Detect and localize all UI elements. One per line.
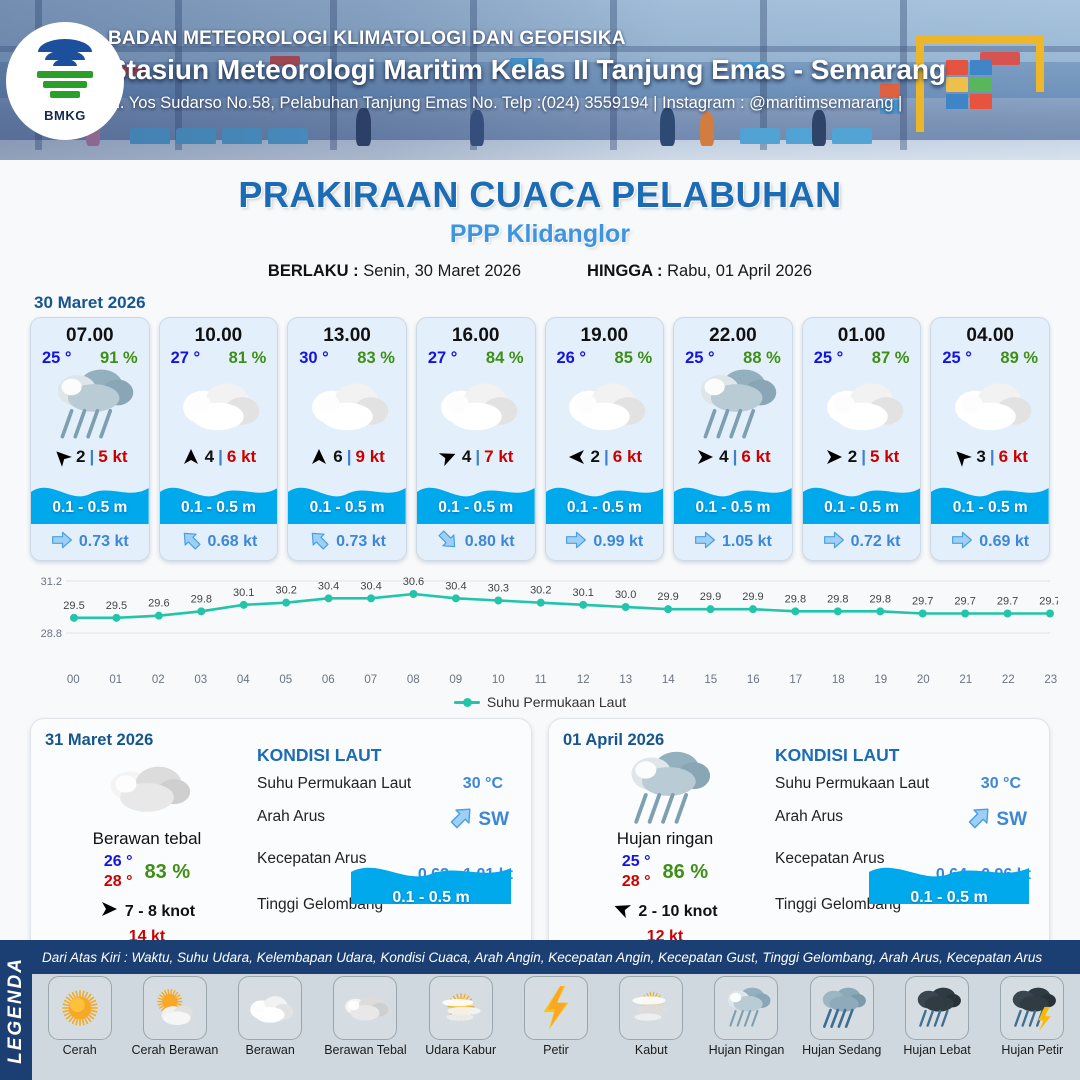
card-wind-row: 4 | 6 kt [160,442,278,472]
svg-text:29.7: 29.7 [954,596,975,608]
card-temperature: 27 ° [171,349,201,368]
card-temperature: 30 ° [299,349,329,368]
card-wind-row: 2 | 6 kt [546,442,664,472]
legenda-item: Cerah Berawan [127,976,222,1057]
valid-until-label: HINGGA : [587,262,662,280]
page-subtitle: PPP Klidanglor [0,220,1080,249]
forecast-card[interactable]: 16.00 27 ° 84 % 4 | 7 kt 0.1 - 0.5 m 0.8… [416,317,536,561]
svg-text:29.5: 29.5 [63,600,84,612]
weather-kabut-icon [619,976,683,1040]
wind-gust: 5 kt [98,447,127,467]
current-speed: 0.73 kt [79,533,129,551]
svg-text:29.7: 29.7 [997,596,1018,608]
svg-text:29.8: 29.8 [870,593,891,605]
wind-direction-arrow-icon [52,447,72,467]
weather-berawan-icon [160,368,278,442]
agency-name: BADAN METEOROLOGI KLIMATOLOGI DAN GEOFIS… [108,28,1068,50]
sst-chart-plot: 31.2 28.8 29.529.529.629.830.130.230.430… [22,573,1058,651]
sea-row-value: SW [996,809,1027,831]
chart-x-tick: 03 [180,674,223,686]
svg-text:29.7: 29.7 [912,596,933,608]
legenda-item: Berawan [223,976,318,1057]
card-wind-row: 4 | 6 kt [674,442,792,472]
logo-arc-icon [36,39,94,69]
svg-text:30.3: 30.3 [488,583,509,595]
wind-separator: | [90,447,95,467]
chart-x-tick: 23 [1030,674,1073,686]
forecast-card[interactable]: 22.00 25 ° 88 % 4 | 6 kt 0.1 - 0.5 m [673,317,793,561]
chart-x-tick: 21 [945,674,988,686]
chart-x-tick: 04 [222,674,265,686]
card-time: 10.00 [160,318,278,347]
wind-separator: | [861,447,866,467]
page-title: PRAKIRAAN CUACA PELABUHAN [0,174,1080,216]
chart-x-tick: 09 [435,674,478,686]
forecast-card[interactable]: 07.00 25 ° 91 % 2 | 5 kt 0.1 - 0.5 m [30,317,150,561]
sea-row-sst: Suhu Permukaan Laut 30 °C [775,775,1035,799]
card-wave-block: 0.1 - 0.5 m [931,474,1049,524]
panel-temp-col: 26 ° 28 ° [104,853,133,891]
forecast-card-row: 07.00 25 ° 91 % 2 | 5 kt 0.1 - 0.5 m [0,317,1080,561]
panel-temp-min: 25 ° [622,853,651,871]
card-current-row: 0.69 kt [931,524,1049,560]
panel-sea-column: KONDISI LAUT Suhu Permukaan Laut 30 °C A… [257,745,517,920]
svg-text:30.6: 30.6 [403,576,424,588]
forecast-card[interactable]: 01.00 25 ° 87 % 2 | 5 kt 0.1 - 0.5 m 0.7… [802,317,922,561]
forecast-day-label: 30 Maret 2026 [34,293,1080,313]
chart-x-tick: 01 [95,674,138,686]
wind-gust: 6 kt [741,447,770,467]
current-direction-arrow-icon [449,804,475,835]
panel-wave-block: 0.1 - 0.5 m [351,854,511,916]
wind-direction-arrow-icon [99,899,119,924]
svg-text:30.1: 30.1 [573,587,594,599]
svg-text:30.0: 30.0 [615,589,636,601]
weather-berawan-tebal-icon [333,976,397,1040]
wind-separator: | [604,447,609,467]
chart-x-tick: 17 [775,674,818,686]
panel-humidity: 86 % [663,861,709,884]
wind-direction-arrow-icon [695,447,715,467]
card-time: 01.00 [803,318,921,347]
svg-text:29.9: 29.9 [700,591,721,603]
wind-direction-arrow-icon [824,447,844,467]
wind-gust: 6 kt [613,447,642,467]
current-speed: 0.73 kt [336,533,386,551]
valid-from-label: BERLAKU : [268,262,359,280]
card-current-row: 0.80 kt [417,524,535,560]
sea-row-label: Arah Arus [775,808,843,825]
wave-height: 0.1 - 0.5 m [931,499,1049,517]
station-name: Stasiun Meteorologi Maritim Kelas II Tan… [108,54,1068,86]
current-direction-arrow-icon [823,529,845,556]
wave-height: 0.1 - 0.5 m [288,499,406,517]
current-speed: 0.69 kt [979,533,1029,551]
wind-direction-arrow-icon [181,447,201,467]
chart-x-tick: 19 [860,674,903,686]
svg-text:29.8: 29.8 [191,593,212,605]
card-wave-block: 0.1 - 0.5 m [803,474,921,524]
card-temperature: 25 ° [942,349,972,368]
chart-x-tick: 10 [477,674,520,686]
sea-row-label: Arah Arus [257,808,325,825]
card-wave-block: 0.1 - 0.5 m [288,474,406,524]
wind-separator: | [733,447,738,467]
svg-text:29.9: 29.9 [742,591,763,603]
chart-x-tick: 11 [520,674,563,686]
forecast-card[interactable]: 10.00 27 ° 81 % 4 | 6 kt 0.1 - 0.5 m 0.6… [159,317,279,561]
card-wind-row: 3 | 6 kt [931,442,1049,472]
weather-berawan-icon [288,368,406,442]
legenda-item: Udara Kabur [413,976,508,1057]
wave-height: 0.1 - 0.5 m [417,499,535,517]
panel-condition: Berawan tebal [47,829,247,849]
weather-hujan-ringan-icon [31,368,149,442]
card-current-row: 0.73 kt [288,524,406,560]
wind-speed: 4 [205,447,214,467]
card-temperature: 26 ° [557,349,587,368]
legenda-item: Hujan Lebat [889,976,984,1057]
card-time: 04.00 [931,318,1049,347]
card-current-row: 0.68 kt [160,524,278,560]
wind-separator: | [990,447,995,467]
panel-temp-hum: 26 ° 28 ° 83 % [47,853,247,891]
card-wind-row: 4 | 7 kt [417,442,535,472]
card-humidity: 87 % [872,349,910,368]
card-wave-block: 0.1 - 0.5 m [546,474,664,524]
logo-text: BMKG [44,108,86,123]
card-humidity: 89 % [1000,349,1038,368]
chart-x-tick: 20 [902,674,945,686]
current-speed: 0.80 kt [465,533,515,551]
chart-x-tick: 00 [52,674,95,686]
chart-x-tick: 16 [732,674,775,686]
legenda-item-row: Cerah Cerah Berawan Berawan Berawan Teba… [32,976,1080,1057]
wind-direction-arrow-icon [612,899,632,924]
daily-summary-panels: 31 Maret 2026 Berawan tebal 26 ° 28 ° 83… [0,710,1080,960]
legenda-item: Hujan Petir [985,976,1080,1057]
sst-chart-legend: Suhu Permukaan Laut [0,694,1080,710]
wind-gust: 9 kt [356,447,385,467]
panel-wind-row: 7 - 8 knot [47,899,247,924]
card-current-row: 0.72 kt [803,524,921,560]
wind-speed: 4 [462,447,471,467]
card-wind-row: 2 | 5 kt [31,442,149,472]
card-time: 13.00 [288,318,406,347]
sea-row-value: 30 °C [463,775,503,793]
valid-until: HINGGA : Rabu, 01 April 2026 [587,262,812,281]
chart-x-tick: 07 [350,674,393,686]
card-time: 22.00 [674,318,792,347]
svg-text:29.6: 29.6 [148,598,169,610]
svg-text:29.7: 29.7 [1039,596,1058,608]
legenda-item: Hujan Ringan [699,976,794,1057]
legenda-item-label: Cerah Berawan [131,1043,218,1057]
daily-summary-panel: 01 April 2026 Hujan ringan 25 ° 28 ° 86 … [548,718,1050,960]
card-temperature: 25 ° [814,349,844,368]
chart-x-tick: 12 [562,674,605,686]
sea-row-value: SW [478,809,509,831]
svg-text:31.2: 31.2 [41,576,62,588]
svg-text:30.4: 30.4 [445,580,466,592]
panel-wind-range: 2 - 10 knot [638,903,717,921]
panel-temp-hum: 25 ° 28 ° 86 % [565,853,765,891]
wind-speed: 2 [76,447,85,467]
card-time: 19.00 [546,318,664,347]
sea-row-sst: Suhu Permukaan Laut 30 °C [257,775,517,799]
card-current-row: 0.99 kt [546,524,664,560]
svg-text:30.4: 30.4 [318,580,339,592]
card-humidity: 85 % [615,349,653,368]
svg-text:29.9: 29.9 [657,591,678,603]
panel-temp-min: 26 ° [104,853,133,871]
svg-text:29.5: 29.5 [106,600,127,612]
card-temp-hum: 26 ° 85 % [546,347,664,368]
weather-hujan-sedang-icon [810,976,874,1040]
current-direction-arrow-icon [51,529,73,556]
panel-temp-max: 28 ° [622,873,651,891]
wind-gust: 6 kt [227,447,256,467]
weather-berawan-icon [238,976,302,1040]
card-wave-block: 0.1 - 0.5 m [31,474,149,524]
sea-row-current-direction: Arah Arus SW [257,808,517,832]
sea-row-label: Suhu Permukaan Laut [257,775,411,792]
chart-x-tick: 02 [137,674,180,686]
forecast-card[interactable]: 19.00 26 ° 85 % 2 | 6 kt 0.1 - 0.5 m 0.9… [545,317,665,561]
wind-speed: 2 [848,447,857,467]
legenda-item-label: Hujan Petir [1001,1043,1063,1057]
legenda-vertical-label: LEGENDA [5,957,27,1064]
card-temp-hum: 30 ° 83 % [288,347,406,368]
weather-hujan-ringan-icon [565,753,765,825]
current-direction-arrow-icon [308,529,330,556]
page-header: BMKG BADAN METEOROLOGI KLIMATOLOGI DAN G… [0,0,1080,160]
current-direction-group: SW [967,804,1027,835]
card-humidity: 84 % [486,349,524,368]
current-speed: 0.99 kt [593,533,643,551]
weather-hujan-ringan-icon [714,976,778,1040]
chart-x-tick: 15 [690,674,733,686]
legenda-item-label: Cerah [63,1043,97,1057]
card-current-row: 1.05 kt [674,524,792,560]
panel-wind-range: 7 - 8 knot [125,903,195,921]
weather-cerah-berawan-icon [143,976,207,1040]
wave-height: 0.1 - 0.5 m [674,499,792,517]
legenda-item-label: Berawan [245,1043,294,1057]
forecast-card[interactable]: 13.00 30 ° 83 % 6 | 9 kt 0.1 - 0.5 m 0.7… [287,317,407,561]
wind-speed: 2 [591,447,600,467]
station-address: Jl. Yos Sudarso No.58, Pelabuhan Tanjung… [108,94,1068,113]
weather-berawan-icon [417,368,535,442]
card-humidity: 81 % [229,349,267,368]
card-time: 07.00 [31,318,149,347]
legenda-item: Hujan Sedang [794,976,889,1057]
legenda-item: Berawan Tebal [318,976,413,1057]
panel-temp-max: 28 ° [104,873,133,891]
legenda-item-label: Petir [543,1043,569,1057]
svg-text:29.8: 29.8 [827,593,848,605]
weather-udara-kabur-icon [429,976,493,1040]
current-direction-arrow-icon [951,529,973,556]
chart-x-tick: 22 [987,674,1030,686]
card-wind-row: 6 | 9 kt [288,442,406,472]
card-temperature: 27 ° [428,349,458,368]
current-speed: 0.68 kt [208,533,258,551]
card-time: 16.00 [417,318,535,347]
weather-hujan-ringan-icon [674,368,792,442]
current-direction-arrow-icon [180,529,202,556]
weather-hujan-lebat-icon [905,976,969,1040]
weather-berawan-tebal-icon [47,753,247,825]
legenda-item-label: Hujan Sedang [802,1043,881,1057]
daily-summary-panel: 31 Maret 2026 Berawan tebal 26 ° 28 ° 83… [30,718,532,960]
legend-line-marker [454,701,480,704]
svg-text:30.2: 30.2 [275,585,296,597]
wind-gust: 7 kt [484,447,513,467]
sea-row-current-direction: Arah Arus SW [775,808,1035,832]
card-temp-hum: 27 ° 84 % [417,347,535,368]
wind-speed: 6 [333,447,342,467]
weather-berawan-icon [931,368,1049,442]
legend-label: Suhu Permukaan Laut [487,694,626,710]
sea-row-value: 30 °C [981,775,1021,793]
panel-temp-col: 25 ° 28 ° [622,853,651,891]
legenda-item-label: Kabut [635,1043,668,1057]
svg-text:30.1: 30.1 [233,587,254,599]
chart-x-tick: 06 [307,674,350,686]
card-wave-block: 0.1 - 0.5 m [160,474,278,524]
current-direction-arrow-icon [694,529,716,556]
legenda-item-label: Berawan Tebal [324,1043,406,1057]
validity-row: BERLAKU : Senin, 30 Maret 2026 HINGGA : … [0,262,1080,281]
weather-petir-icon [524,976,588,1040]
svg-text:30.4: 30.4 [360,580,381,592]
chart-x-tick: 08 [392,674,435,686]
forecast-card[interactable]: 04.00 25 ° 89 % 3 | 6 kt 0.1 - 0.5 m 0.6… [930,317,1050,561]
card-wave-block: 0.1 - 0.5 m [417,474,535,524]
card-humidity: 83 % [357,349,395,368]
bmkg-logo: BMKG [6,22,124,140]
title-section: PRAKIRAAN CUACA PELABUHAN PPP Klidanglor… [0,160,1080,281]
wind-direction-arrow-icon [438,447,458,467]
wave-height: 0.1 - 0.5 m [803,499,921,517]
card-temp-hum: 25 ° 89 % [931,347,1049,368]
svg-text:30.2: 30.2 [530,585,551,597]
wind-separator: | [475,447,480,467]
legenda-item: Kabut [604,976,699,1057]
wind-separator: | [218,447,223,467]
panel-humidity: 83 % [145,861,191,884]
wind-direction-arrow-icon [567,447,587,467]
current-direction-arrow-icon [565,529,587,556]
svg-text:29.8: 29.8 [785,593,806,605]
weather-hujan-petir-icon [1000,976,1064,1040]
legenda-item: Cerah [32,976,127,1057]
card-temp-hum: 25 ° 87 % [803,347,921,368]
sea-condition-title: KONDISI LAUT [257,745,517,766]
panel-sea-column: KONDISI LAUT Suhu Permukaan Laut 30 °C A… [775,745,1035,920]
wind-direction-arrow-icon [309,447,329,467]
wave-height: 0.1 - 0.5 m [160,499,278,517]
chart-x-tick: 14 [647,674,690,686]
card-current-row: 0.73 kt [31,524,149,560]
wave-height: 0.1 - 0.5 m [31,499,149,517]
legenda-item-label: Udara Kabur [425,1043,496,1057]
legenda-item-label: Hujan Ringan [709,1043,785,1057]
chart-x-tick: 05 [265,674,308,686]
weather-berawan-icon [803,368,921,442]
current-direction-arrow-icon [967,804,993,835]
svg-text:28.8: 28.8 [41,628,62,640]
panel-wave-block: 0.1 - 0.5 m [869,854,1029,916]
card-wind-row: 2 | 5 kt [803,442,921,472]
card-wave-block: 0.1 - 0.5 m [674,474,792,524]
legenda-vertical-bar: LEGENDA [0,940,32,1080]
current-direction-arrow-icon [437,529,459,556]
current-speed: 1.05 kt [722,533,772,551]
legenda-item-label: Hujan Lebat [903,1043,970,1057]
chart-x-tick: 18 [817,674,860,686]
header-text-block: BADAN METEOROLOGI KLIMATOLOGI DAN GEOFIS… [108,28,1068,113]
logo-wave-icon [34,71,96,105]
legenda-item: Petir [508,976,603,1057]
valid-from-value: Senin, 30 Maret 2026 [363,262,521,280]
sst-chart-xaxis: 0001020304050607080910111213141516171819… [0,674,1080,686]
weather-berawan-icon [546,368,664,442]
wind-direction-arrow-icon [952,447,972,467]
weather-cerah-icon [48,976,112,1040]
wave-height: 0.1 - 0.5 m [546,499,664,517]
wind-speed: 4 [719,447,728,467]
valid-from: BERLAKU : Senin, 30 Maret 2026 [268,262,521,281]
wind-separator: | [347,447,352,467]
sea-row-value: 0.1 - 0.5 m [869,889,1029,907]
sst-chart: 31.2 28.8 29.529.529.629.830.130.230.430… [22,573,1058,673]
card-temp-hum: 27 ° 81 % [160,347,278,368]
panel-wind-row: 2 - 10 knot [565,899,765,924]
sea-row-label: Suhu Permukaan Laut [775,775,929,792]
wind-gust: 6 kt [999,447,1028,467]
panel-left-column: Hujan ringan 25 ° 28 ° 86 % 2 - 10 knot … [565,753,765,946]
sea-condition-title: KONDISI LAUT [775,745,1035,766]
wind-gust: 5 kt [870,447,899,467]
current-direction-group: SW [449,804,509,835]
panel-left-column: Berawan tebal 26 ° 28 ° 83 % 7 - 8 knot … [47,753,247,946]
sea-row-value: 0.1 - 0.5 m [351,889,511,907]
valid-until-value: Rabu, 01 April 2026 [667,262,812,280]
wind-speed: 3 [976,447,985,467]
panel-condition: Hujan ringan [565,829,765,849]
legenda-note: Dari Atas Kiri : Waktu, Suhu Udara, Kele… [32,940,1080,974]
current-speed: 0.72 kt [851,533,901,551]
legenda-section: LEGENDA Dari Atas Kiri : Waktu, Suhu Uda… [0,940,1080,1080]
chart-x-tick: 13 [605,674,648,686]
